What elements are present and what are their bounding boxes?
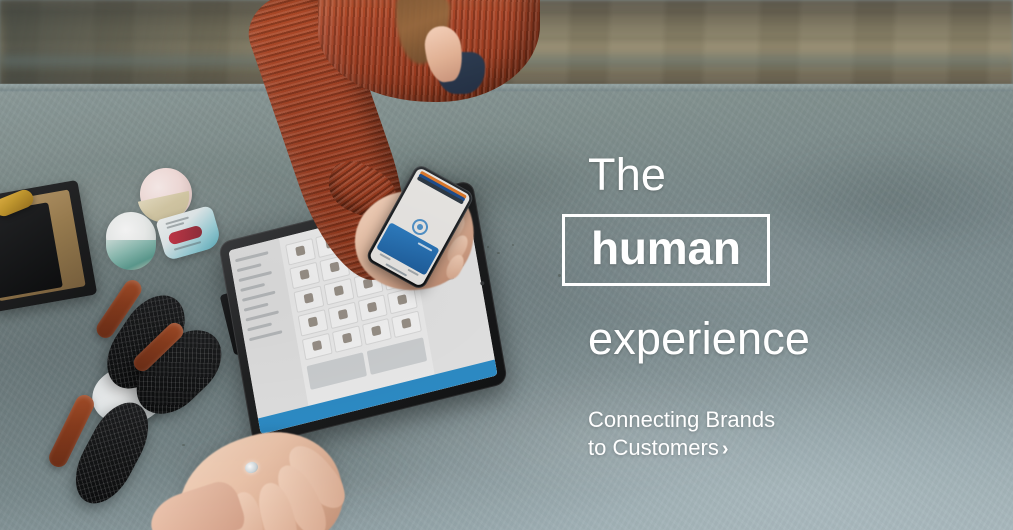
pos-product-tile[interactable] (387, 287, 418, 314)
counter-speck (497, 252, 500, 254)
product-thumb-icon (337, 309, 347, 320)
pos-category-item[interactable] (239, 271, 273, 282)
pos-category-item[interactable] (242, 291, 276, 302)
pos-product-tile[interactable] (362, 318, 393, 345)
pos-product-tile[interactable] (293, 285, 324, 312)
pos-product-tile[interactable] (285, 238, 316, 265)
product-thumb-icon (367, 302, 377, 313)
hero-copy: The human experience Connecting Brands t… (588, 150, 988, 463)
chevron-right-icon: › (719, 438, 729, 460)
tablet-camera (480, 281, 485, 286)
pos-product-tile[interactable] (391, 311, 422, 338)
pos-product-tile[interactable] (298, 309, 329, 336)
product-thumb-icon (333, 285, 343, 296)
product-thumb-icon (371, 325, 381, 336)
counter-speck (558, 274, 561, 277)
pos-product-tile[interactable] (289, 262, 320, 289)
cta-line-1: Connecting Brands (588, 407, 775, 432)
pos-product-tile[interactable] (357, 294, 388, 321)
product-thumb-icon (312, 340, 322, 351)
counter-speck (512, 244, 514, 246)
card-number-text (417, 242, 432, 252)
cta-link[interactable]: Connecting Brands to Customers› (588, 406, 775, 463)
pos-category-item[interactable] (247, 322, 272, 331)
counter-speck (487, 246, 489, 248)
pos-action-button[interactable] (367, 337, 427, 375)
pos-product-tile[interactable] (323, 278, 354, 305)
headline-line-3: experience (588, 314, 988, 364)
pos-category-item[interactable] (237, 263, 262, 272)
product-thumb-icon (401, 318, 411, 329)
product-thumb-icon (397, 294, 407, 305)
product-thumb-icon (308, 316, 318, 327)
product-thumb-icon (295, 245, 305, 256)
pos-action-button[interactable] (307, 352, 367, 390)
product-thumb-icon (299, 269, 309, 280)
counter-speck (182, 444, 185, 446)
pos-product-tile[interactable] (328, 302, 359, 329)
pos-category-item[interactable] (235, 251, 269, 262)
pos-category-item[interactable] (240, 283, 265, 292)
pos-product-tile[interactable] (332, 325, 363, 352)
headline-line-2: human (591, 222, 741, 274)
pos-product-tile[interactable] (302, 333, 333, 360)
pos-category-item[interactable] (249, 330, 283, 341)
product-thumb-icon (303, 293, 313, 304)
product-thumb-icon (329, 262, 339, 273)
pos-category-item[interactable] (244, 303, 269, 312)
product-thumb-icon (342, 333, 352, 344)
cta-line-2: to Customers (588, 435, 719, 460)
headline-line-1: The (588, 150, 988, 200)
pos-category-item[interactable] (245, 310, 279, 321)
hero-banner: The human experience Connecting Brands t… (0, 0, 1013, 530)
headline-emphasis-box: human (562, 214, 770, 286)
